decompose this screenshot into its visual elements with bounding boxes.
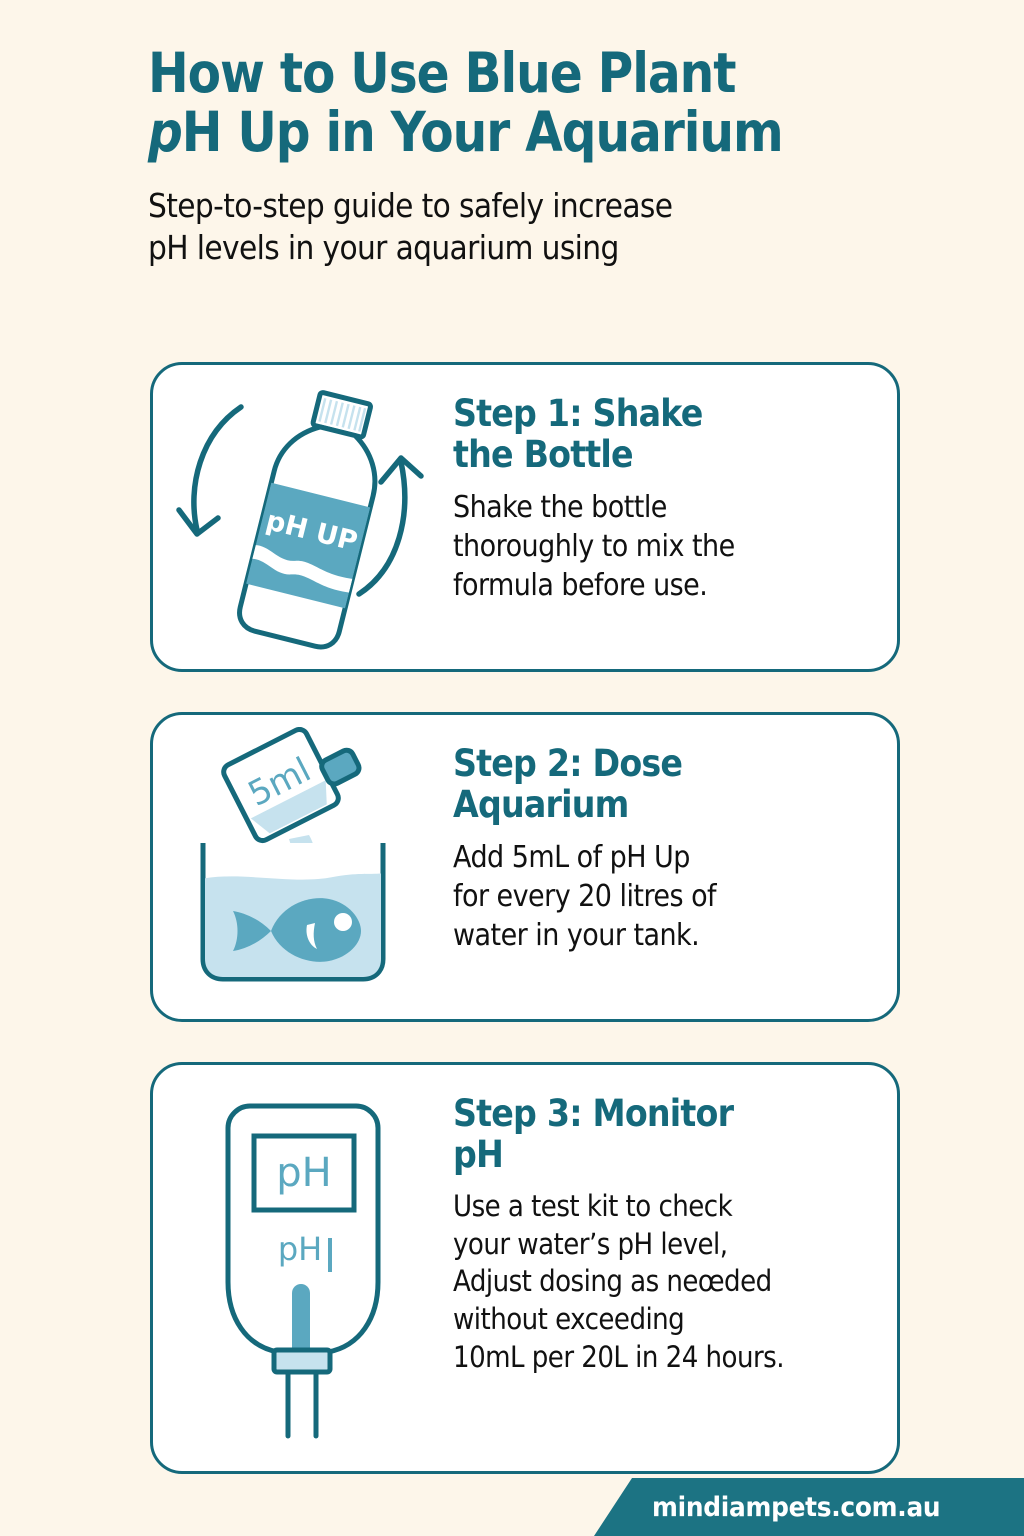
step-1-heading: Step 1: Shake the Bottle (453, 393, 826, 476)
meter-connector (274, 1350, 330, 1372)
step-1-copy: Step 1: Shake the Bottle Shake the bottl… (453, 365, 897, 605)
step-3-heading: Step 3: Monitor pH (453, 1093, 826, 1176)
measuring-cup-graphic: 5ml (221, 727, 370, 843)
step-card-2: 5ml Step 2: Dose Aquarium Add 5mL of pH … (150, 712, 900, 1022)
page-title-line-1: How to Use Blue Plant (148, 41, 735, 105)
footer-banner: mindiampets.com.au (0, 1478, 1024, 1536)
ph-meter-icon: pH pH (188, 1088, 418, 1448)
page-title: How to Use Blue PlantpH Up in Your Aquar… (148, 44, 856, 163)
arrow-left-down-icon (179, 407, 241, 534)
step-2-illustration: 5ml (153, 715, 453, 1019)
step-2-body: Add 5mL of pH Up for every 20 litres of … (453, 838, 826, 955)
page-title-line-2: H Up in Your Aquarium (182, 100, 783, 164)
step-card-1: pH UP Step 1: Shake the Bottle Shake the… (150, 362, 900, 672)
bottle-graphic: pH UP (231, 384, 405, 652)
meter-tick-mark (328, 1238, 332, 1272)
footer-website-url[interactable]: mindiampets.com.au (652, 1478, 940, 1536)
step-3-illustration: pH pH (153, 1065, 453, 1471)
fish-eye (334, 913, 352, 931)
page-title-italic-p: p (148, 100, 182, 164)
meter-probe-prongs (288, 1374, 316, 1436)
step-card-3: pH pH Step 3: Monitor pH Use a test kit … (150, 1062, 900, 1474)
step-1-illustration: pH UP (153, 365, 453, 669)
shake-bottle-icon: pH UP (163, 382, 443, 652)
meter-display-text: pH (276, 1150, 331, 1196)
step-1-body: Shake the bottle thoroughly to mix the f… (453, 488, 826, 605)
page-subtitle: Step-to-step guide to safely increase pH… (148, 185, 868, 269)
dose-aquarium-icon: 5ml (163, 727, 443, 1007)
meter-secondary-label: pH (278, 1230, 322, 1268)
step-3-body: Use a test kit to check your water’s pH … (453, 1188, 826, 1376)
step-2-heading: Step 2: Dose Aquarium (453, 743, 826, 826)
header: How to Use Blue PlantpH Up in Your Aquar… (148, 44, 948, 269)
step-2-copy: Step 2: Dose Aquarium Add 5mL of pH Up f… (453, 715, 897, 955)
cup-spout (319, 748, 361, 787)
step-3-copy: Step 3: Monitor pH Use a test kit to che… (453, 1065, 897, 1376)
